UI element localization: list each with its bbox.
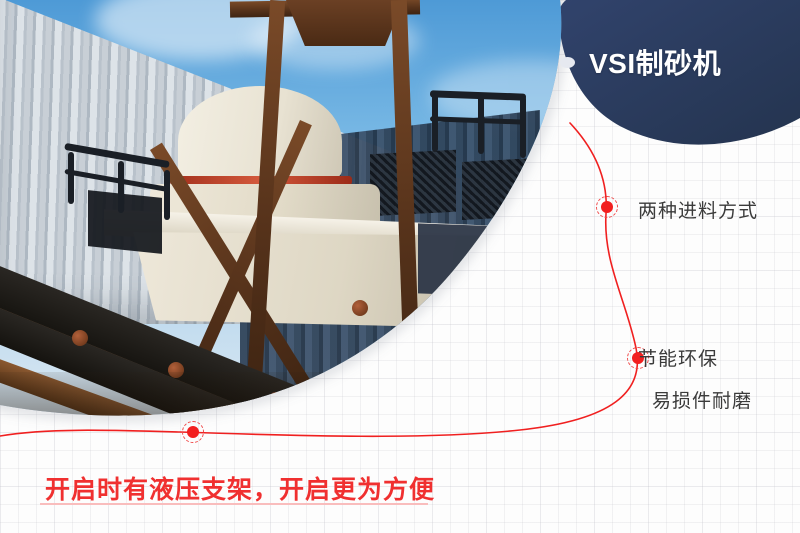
dot-bullet-icon: [560, 57, 575, 68]
title-block: VSI制砂机: [560, 42, 721, 82]
feature-label-wear: 易损件耐磨: [652, 386, 752, 413]
handrail-post: [520, 96, 526, 158]
page-title: VSI制砂机: [589, 42, 721, 82]
promo-banner: VSI制砂机 两种进料方式 节能环保 易损件耐磨 开启时有液压支架，开启更为方便: [0, 0, 800, 533]
feature-marker-feeding[interactable]: [596, 196, 618, 218]
handrail-post: [68, 152, 74, 204]
caption-text: 开启时有液压支架，开启更为方便: [45, 470, 435, 506]
handrail-post: [432, 92, 438, 152]
marker-core-icon: [187, 426, 199, 438]
belt-roller: [352, 300, 368, 316]
feed-hopper: [286, 0, 404, 46]
handrail-post: [478, 94, 484, 154]
feature-label-eco: 节能环保: [638, 344, 718, 371]
belt-roller: [72, 330, 88, 346]
caption-underline: [40, 503, 428, 505]
caption-marker[interactable]: [182, 421, 204, 443]
handrail-post: [118, 161, 124, 213]
handrail-post: [164, 170, 170, 220]
dark-panel: [88, 190, 162, 254]
feature-label-feeding: 两种进料方式: [638, 196, 758, 223]
marker-core-icon: [601, 201, 613, 213]
